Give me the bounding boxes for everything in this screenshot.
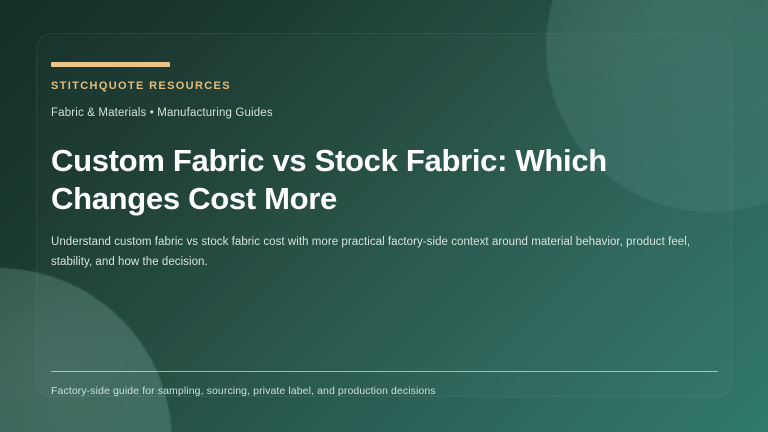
gold-accent-bar (51, 62, 170, 67)
card-content: STITCHQUOTE RESOURCES Fabric & Materials… (51, 33, 719, 397)
category-kicker: Fabric & Materials • Manufacturing Guide… (51, 107, 719, 121)
footer-divider (51, 371, 718, 372)
page-title: Custom Fabric vs Stock Fabric: Which Cha… (51, 142, 671, 218)
footer-note: Factory-side guide for sampling, sourcin… (51, 385, 718, 398)
hero-banner: STITCHQUOTE RESOURCES Fabric & Materials… (0, 0, 768, 432)
article-summary: Understand custom fabric vs stock fabric… (51, 232, 703, 273)
brand-eyebrow: STITCHQUOTE RESOURCES (51, 80, 719, 92)
card-footer: Factory-side guide for sampling, sourcin… (51, 371, 718, 398)
